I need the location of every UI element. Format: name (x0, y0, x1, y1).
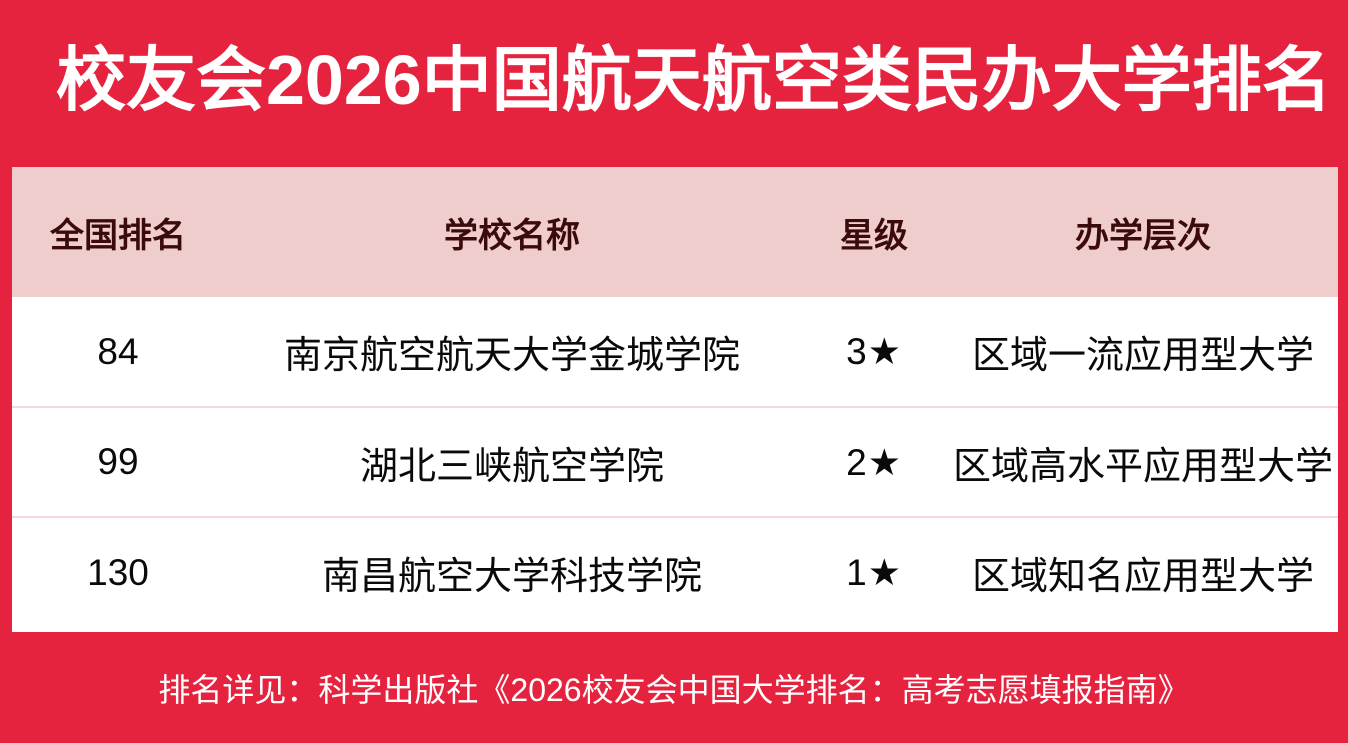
cell-school-level: 区域一流应用型大学 (948, 297, 1338, 407)
column-header-rank: 全国排名 (12, 167, 224, 297)
cell-school-name: 湖北三峡航空学院 (224, 407, 800, 517)
column-header-star: 星级 (800, 167, 948, 297)
table-row: 84 南京航空航天大学金城学院 3★ 区域一流应用型大学 (12, 297, 1338, 407)
cell-rank: 84 (12, 297, 224, 407)
table-row: 99 湖北三峡航空学院 2★ 区域高水平应用型大学 (12, 407, 1338, 517)
column-header-level: 办学层次 (948, 167, 1338, 297)
cell-rank: 130 (12, 517, 224, 627)
ranking-table-card: 全国排名 学校名称 星级 办学层次 84 南京航空航天大学金城学院 3★ 区域一… (12, 167, 1338, 632)
cell-rank: 99 (12, 407, 224, 517)
column-header-school: 学校名称 (224, 167, 800, 297)
cell-star-rating: 2★ (800, 407, 948, 517)
ranking-poster: 校友会2026中国航天航空类民办大学排名 全国排名 学校名称 星级 办学层次 8 (0, 0, 1348, 743)
source-note: 排名详见：科学出版社《2026校友会中国大学排名：高考志愿填报指南》 (0, 632, 1348, 743)
cell-school-name: 南昌航空大学科技学院 (224, 517, 800, 627)
cell-star-rating: 1★ (800, 517, 948, 627)
table-row: 130 南昌航空大学科技学院 1★ 区域知名应用型大学 (12, 517, 1338, 627)
cell-school-level: 区域知名应用型大学 (948, 517, 1338, 627)
cell-school-name: 南京航空航天大学金城学院 (224, 297, 800, 407)
title-banner: 校友会2026中国航天航空类民办大学排名 (0, 0, 1348, 160)
page-title: 校友会2026中国航天航空类民办大学排名 (0, 45, 1332, 115)
cell-school-level: 区域高水平应用型大学 (948, 407, 1338, 517)
ranking-table: 全国排名 学校名称 星级 办学层次 84 南京航空航天大学金城学院 3★ 区域一… (12, 167, 1338, 627)
cell-star-rating: 3★ (800, 297, 948, 407)
table-header-row: 全国排名 学校名称 星级 办学层次 (12, 167, 1338, 297)
